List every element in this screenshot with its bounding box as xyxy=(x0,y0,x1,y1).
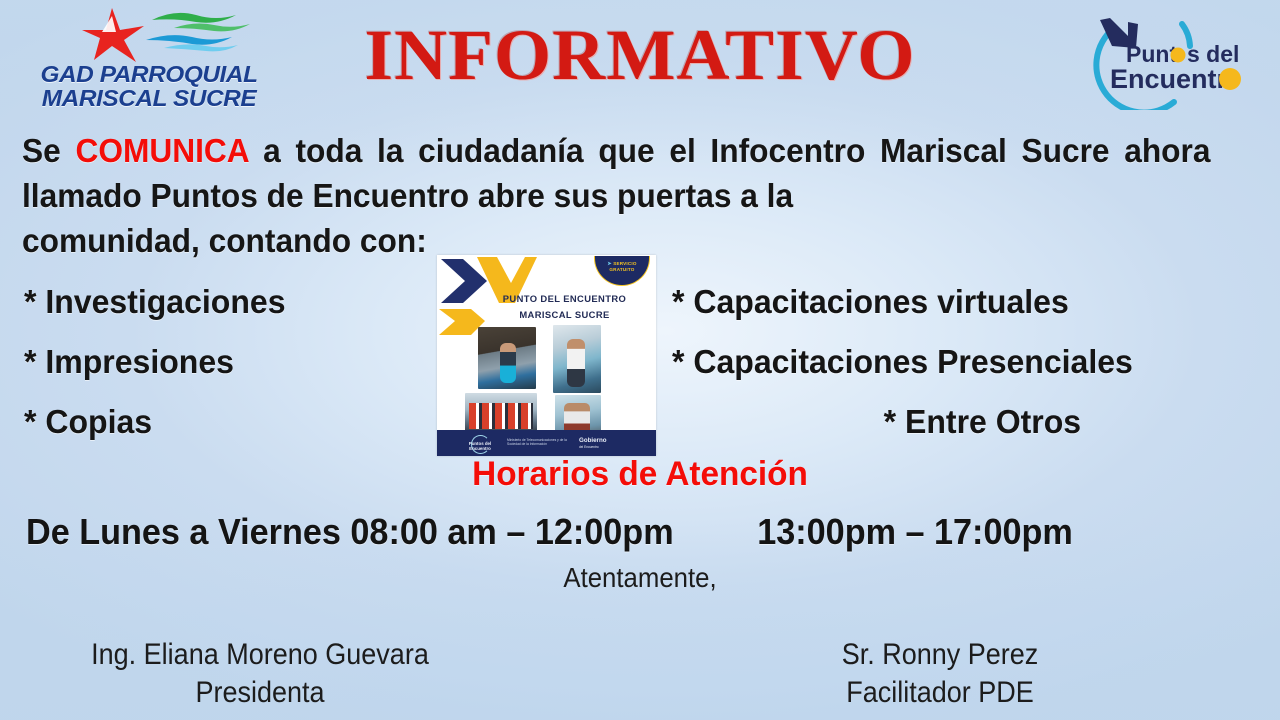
schedule-times: De Lunes a Viernes 08:00 am – 12:00pm13:… xyxy=(26,511,1195,553)
list-item: * Capacitaciones Presenciales xyxy=(672,332,1254,392)
schedule-heading: Horarios de Atención xyxy=(13,455,1267,494)
schedule-afternoon: 13:00pm – 17:00pm xyxy=(757,511,1073,552)
flyer-title-line1: PUNTO DEL ENCUENTRO xyxy=(503,293,626,304)
pde-arc-arrow-icon: Punt s del Encuentr xyxy=(1070,6,1266,110)
list-item: * Investigaciones xyxy=(24,272,286,332)
flyer-thumbnail: ➤ SERVICIO GRATUITO PUNTO DEL ENCUENTRO … xyxy=(437,255,656,456)
signer-left-name: Ing. Eliana Moreno Guevara xyxy=(26,636,494,674)
signer-right-role: Facilitador PDE xyxy=(760,674,1120,712)
flyer-footer-bar: Puntos del Encuentro Ministerio de Telec… xyxy=(437,430,656,456)
flyer-gobierno-line1: Gobierno xyxy=(579,437,607,444)
list-item: * Capacitaciones virtuales xyxy=(672,272,1254,332)
badge-line2: GRATUITO xyxy=(609,267,634,272)
list-item: * Entre Otros xyxy=(672,392,1254,452)
flyer-gobierno-line2: del Encuentro xyxy=(579,444,639,451)
paragraph-highlight: COMUNICA xyxy=(75,132,248,169)
signer-left-role: Presidenta xyxy=(26,674,494,712)
flyer-photo-1 xyxy=(478,327,536,389)
free-service-badge: ➤ SERVICIO GRATUITO xyxy=(594,256,650,286)
puntos-del-encuentro-logo: Punt s del Encuentr xyxy=(1070,6,1266,110)
flyer-gobierno-logo: Gobierno del Encuentro xyxy=(579,437,639,451)
list-item: * Impresiones xyxy=(24,332,286,392)
schedule-morning: De Lunes a Viernes 08:00 am – 12:00pm xyxy=(26,511,674,552)
signature-left: Ing. Eliana Moreno Guevara Presidenta xyxy=(26,636,494,712)
services-list-left: * Investigaciones * Impresiones * Copias xyxy=(24,272,286,452)
badge-line1: SERVICIO xyxy=(613,261,636,266)
flyer-photo-2 xyxy=(553,325,601,393)
flyer-ministry-text: Ministerio de Telecomunicaciones y de la… xyxy=(507,438,569,447)
services-list-right: * Capacitaciones virtuales * Capacitacio… xyxy=(672,272,1254,452)
signature-right: Sr. Ronny Perez Facilitador PDE xyxy=(760,636,1120,712)
paragraph-part1: Se xyxy=(22,132,75,169)
informative-poster: GAD PARROQUIAL MARISCAL SUCRE INFORMATIV… xyxy=(0,0,1280,720)
badge-arrow-icon: ➤ xyxy=(607,261,611,267)
flyer-pde-logo: Puntos del Encuentro xyxy=(459,435,501,451)
flyer-photo-3 xyxy=(465,393,537,435)
signer-right-name: Sr. Ronny Perez xyxy=(760,636,1120,674)
list-item: * Copias xyxy=(24,392,286,452)
flyer-pde-line2: Encuentro xyxy=(469,446,491,451)
svg-text:Encuentr: Encuentr xyxy=(1110,64,1228,94)
closing-salutation: Atentamente, xyxy=(51,562,1229,594)
flyer-title-line2: MARISCAL SUCRE xyxy=(519,309,609,320)
announcement-paragraph: Se COMUNICA a toda la ciudadanía que el … xyxy=(22,128,1210,263)
flyer-title: PUNTO DEL ENCUENTRO MARISCAL SUCRE xyxy=(477,291,652,323)
